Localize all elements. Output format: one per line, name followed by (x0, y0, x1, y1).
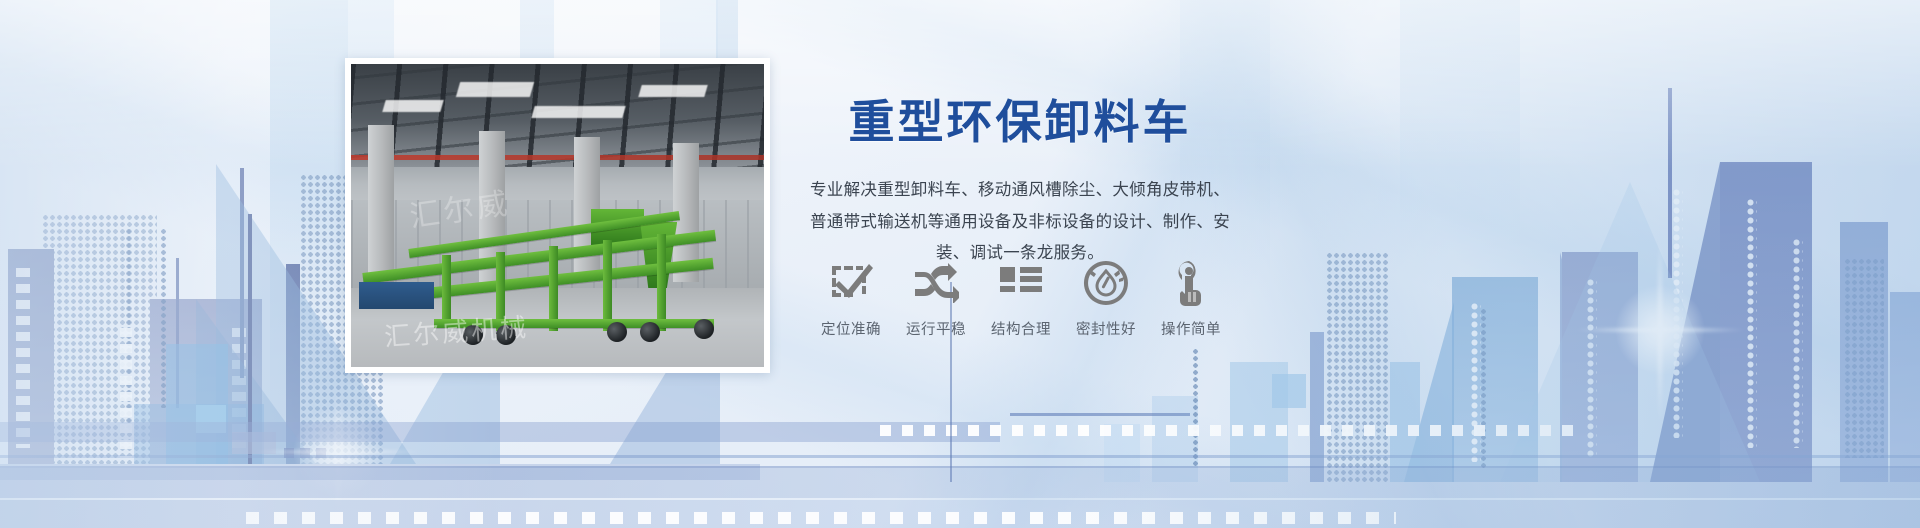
feature-label-4: 操作简单 (1152, 318, 1230, 339)
feature-item-4[interactable]: 操作简单 (1152, 258, 1230, 339)
product-photo: 汇尔威 汇尔威机械 (351, 64, 764, 367)
checkbox-check-icon (812, 258, 890, 308)
feature-item-0[interactable]: 定位准确 (812, 258, 890, 339)
hero-text-block: 重型环保卸料车 专业解决重型卸料车、移动通风槽除尘、大倾角皮带机、普通带式输送机… (810, 96, 1230, 270)
seal-gauge-icon (1067, 258, 1145, 308)
product-photo-frame: 汇尔威 汇尔威机械 (345, 58, 770, 373)
layout-blocks-icon (982, 258, 1060, 308)
feature-item-3[interactable]: 密封性好 (1067, 258, 1145, 339)
feature-label-1: 运行平稳 (897, 318, 975, 339)
feature-label-0: 定位准确 (812, 318, 890, 339)
feature-label-3: 密封性好 (1067, 318, 1145, 339)
feature-label-2: 结构合理 (982, 318, 1060, 339)
page-title: 重型环保卸料车 (810, 96, 1230, 149)
feature-list: 定位准确 运行平稳 (812, 258, 1230, 339)
product-hero-banner: 汇尔威 汇尔威机械 重型环保卸料车 专业解决重型卸料车、移动通风槽除尘、大倾角皮… (0, 0, 1920, 528)
feature-item-1[interactable]: 运行平稳 (897, 258, 975, 339)
hero-description: 专业解决重型卸料车、移动通风槽除尘、大倾角皮带机、普通带式输送机等通用设备及非标… (810, 175, 1230, 270)
feature-item-2[interactable]: 结构合理 (982, 258, 1060, 339)
shuffle-arrows-icon (897, 258, 975, 308)
touch-hand-icon (1152, 258, 1230, 308)
